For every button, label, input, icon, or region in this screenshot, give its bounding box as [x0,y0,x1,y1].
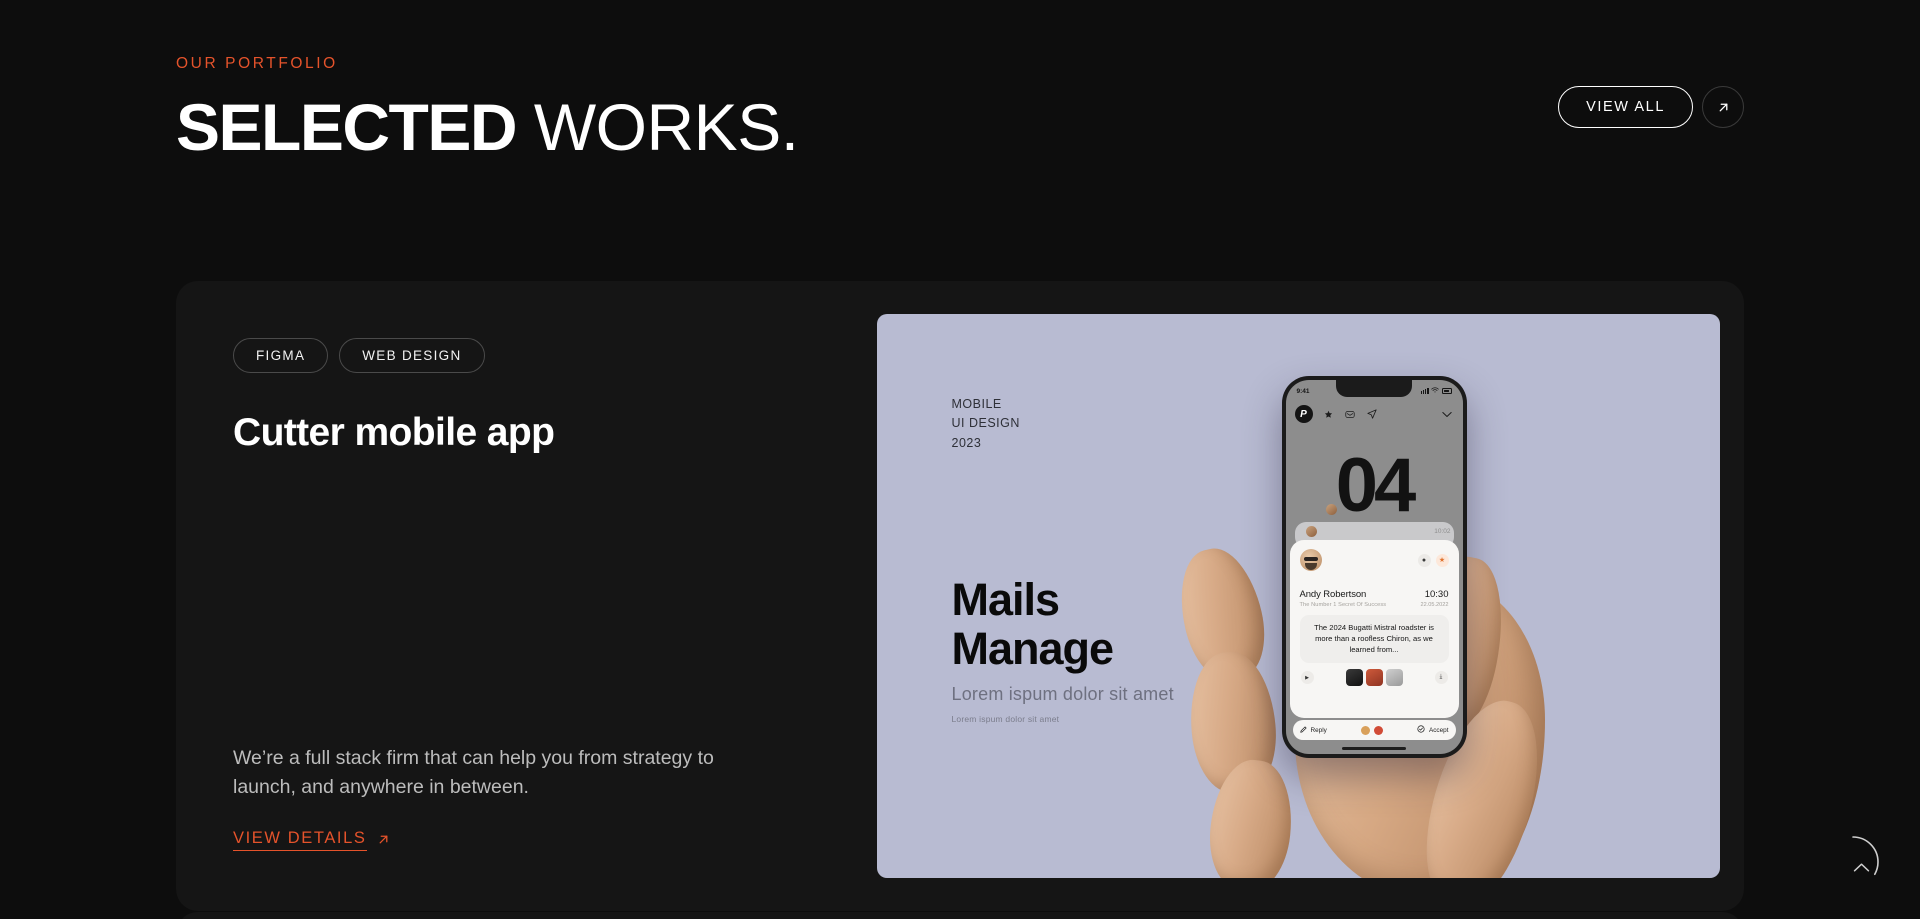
artwork-meta-line-2: UI DESIGN [952,414,1020,433]
cellular-signal-icon [1421,388,1429,394]
portfolio-section: OUR PORTFOLIO SELECTED WORKS. VIEW ALL F… [0,0,1920,919]
section-eyebrow: OUR PORTFOLIO [176,56,1744,72]
battery-icon [1442,388,1452,393]
artwork-meta-line-1: MOBILE [952,395,1020,414]
view-details-label: VIEW DETAILS [233,829,367,851]
mail-date: 22.05.2022 [1421,602,1449,608]
project-info: FIGMA WEB DESIGN Cutter mobile app We’re… [176,281,876,911]
avatar [1306,526,1317,537]
project-title: Cutter mobile app [233,411,876,456]
play-icon[interactable]: ▶ [1301,671,1314,684]
mail-body-text: The 2024 Bugatti Mistral roadster is mor… [1300,615,1449,663]
status-bar-time: 9:41 [1297,388,1310,395]
accept-button[interactable]: Accept [1417,725,1449,735]
attachment-thumb[interactable] [1346,669,1363,686]
avatar [1300,549,1322,571]
artwork-headline: Mails Manage [952,576,1114,673]
app-logo-icon: P [1295,405,1313,423]
reply-label: Reply [1311,727,1327,734]
attachment-thumbnails[interactable] [1346,669,1403,686]
view-all-button[interactable]: VIEW ALL [1558,86,1693,128]
phone-stacked-card-time: 10:02 [1434,528,1450,535]
pencil-icon [1300,726,1307,735]
mail-action-bar: Reply Accept [1293,720,1456,740]
reaction-icon[interactable] [1374,726,1383,735]
artwork-meta: MOBILE UI DESIGN 2023 [952,395,1020,453]
attachment-thumb[interactable] [1366,669,1383,686]
chevron-down-icon [1441,408,1454,421]
phone-mockup: 9:41 [1282,376,1467,758]
arrow-up-right-icon [376,832,391,849]
avatar [1326,504,1337,515]
attachment-thumb[interactable] [1386,669,1403,686]
download-icon[interactable]: ⤓ [1435,671,1448,684]
mail-attachments: ▶ ⤓ [1300,669,1449,686]
reply-button[interactable]: Reply [1300,726,1327,735]
scroll-to-top-button[interactable] [1824,833,1882,891]
artwork-subtitle-small: Lorem ispum dolor sit amet [952,714,1060,724]
project-tag-web-design[interactable]: WEB DESIGN [339,338,484,373]
artwork-headline-line-1: Mails [952,576,1114,625]
artwork-meta-line-3: 2023 [952,434,1020,453]
project-tags: FIGMA WEB DESIGN [233,338,876,373]
phone-screen: 9:41 [1286,380,1463,754]
next-project-card[interactable] [176,912,1744,919]
section-header: OUR PORTFOLIO SELECTED WORKS. VIEW ALL [176,56,1744,161]
send-icon [1366,408,1379,421]
view-all-arrow-button[interactable] [1702,86,1744,128]
mail-subject-row: The Number 1 Secret Of Success 22.05.202… [1300,602,1449,608]
artwork-subtitle: Lorem ispum dolor sit amet [952,684,1174,705]
project-card-inner: FIGMA WEB DESIGN Cutter mobile app We’re… [176,281,1744,911]
star-icon[interactable]: ★ [1436,554,1449,567]
spacer [233,456,876,744]
mail-icon [1344,408,1357,421]
arrow-up-right-icon [1716,100,1731,115]
view-details-link[interactable]: VIEW DETAILS [233,829,391,851]
mail-subject: The Number 1 Secret Of Success [1300,602,1387,608]
mail-card-header: ● ★ [1300,549,1449,571]
mail-sender-row: Andy Robertson 10:30 [1300,589,1449,600]
page-title: SELECTED WORKS. [176,94,1744,161]
phone-app-bar: P [1286,402,1463,426]
project-card[interactable]: FIGMA WEB DESIGN Cutter mobile app We’re… [176,281,1744,911]
accept-label: Accept [1429,727,1449,734]
check-circle-icon [1417,725,1425,735]
page-title-light: WORKS. [516,90,799,164]
artwork-headline-line-2: Manage [952,625,1114,674]
page-title-strong: SELECTED [176,90,516,164]
mail-card-actions: ● ★ [1418,554,1449,567]
project-artwork-wrap: MOBILE UI DESIGN 2023 Mails Manage Lorem… [876,281,1744,911]
reaction-icon[interactable] [1361,726,1370,735]
wifi-icon [1431,387,1439,395]
star-icon [1322,408,1335,421]
project-tag-figma[interactable]: FIGMA [233,338,328,373]
project-artwork[interactable]: MOBILE UI DESIGN 2023 Mails Manage Lorem… [877,314,1720,878]
phone-status-bar: 9:41 [1286,385,1463,397]
reaction-group[interactable] [1361,726,1383,735]
status-bar-icons [1421,387,1452,395]
more-icon[interactable]: ● [1418,554,1431,567]
project-description: We’re a full stack firm that can help yo… [233,744,718,803]
mail-time: 10:30 [1425,589,1449,600]
mail-card: ● ★ Andy Robertson 10:30 The Number 1 [1290,540,1459,718]
mail-sender-name: Andy Robertson [1300,589,1367,600]
home-indicator [1342,747,1406,750]
header-actions: VIEW ALL [1558,86,1744,128]
